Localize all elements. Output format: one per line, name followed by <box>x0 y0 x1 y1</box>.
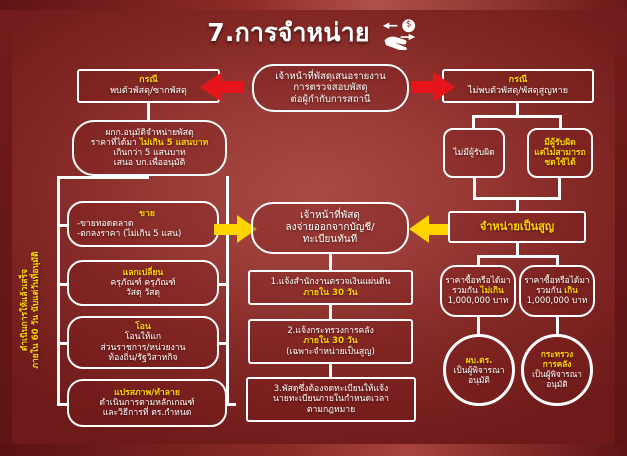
node-liable-cannot-pay[interactable]: มีผู้รับผิด แต่ไม่สามารถ ชดใช้ได้ <box>527 128 593 178</box>
liable-line-1: มีผู้รับผิด <box>544 138 575 148</box>
node-no-liable[interactable]: ไม่มีผู้รับผิด <box>443 128 505 178</box>
liable-line-2: แต่ไม่สามารถ <box>534 148 586 158</box>
case-found-line-1: พบตัวพัสดุ/ซากพัสดุ <box>110 86 187 97</box>
sell-line-2: -ตกลงราคา (ไม่เกิน 5 แสน) <box>77 229 181 239</box>
node-exchange[interactable]: แลกเปลี่ยน ครุภัณฑ์ ครุภัณฑ์ วัสดุ วัสดุ <box>67 260 219 306</box>
step3-line-1: 3.พัสดุซึ่งต้องจดทะเบียนให้แจ้ง <box>274 384 389 394</box>
top-decorative-band <box>0 0 627 10</box>
connector-no-liable-bottom <box>473 178 476 197</box>
case-found-title: กรณี <box>139 75 158 86</box>
step2-line-3: (เฉพาะจำหน่ายเป็นสูญ) <box>286 347 375 357</box>
transfer-title: โอน <box>135 322 151 332</box>
officer-line-2: ลงจ่ายออกจากบัญชี/ <box>286 222 375 234</box>
arrow-left-shaft <box>222 81 244 93</box>
page-title: 7.การจำหน่าย <box>207 13 369 53</box>
price-over-line-3: 1,000,000 บาท <box>527 296 588 306</box>
destroy-title: แปรสภาพ/ทำลาย <box>114 388 180 398</box>
left-spine-top-link <box>57 176 149 179</box>
left-column-right-spine <box>226 176 229 406</box>
arrow-right-shaft <box>411 81 433 93</box>
yellow-arrow-right-icon <box>409 215 429 243</box>
step2-line-1: 2.แจ้งกระทรวงการคลัง <box>287 326 374 336</box>
node-sell[interactable]: ขาย -ขายทอดตลาด -ตกลงราคา (ไม่เกิน 5 แสน… <box>67 201 219 247</box>
node-transfer[interactable]: โอน โอนให้แก ส่วนราชการ/หน่วยงาน ท้องถิ่… <box>67 316 219 369</box>
connector-price-split <box>477 255 558 258</box>
svg-text:$: $ <box>406 20 412 30</box>
liable-line-3: ชดใช้ได้ <box>544 158 575 168</box>
node-step-3[interactable]: 3.พัสดุซึ่งต้องจดทะเบียนให้แจ้ง นายทะเบี… <box>246 377 416 422</box>
bottom-decorative-band <box>0 444 627 456</box>
connector-case-found-down <box>147 103 150 120</box>
yellow-arrow-right-shaft <box>428 224 450 235</box>
step3-line-3: ตามกฎหมาย <box>307 405 355 415</box>
officer-line-1: เจ้าหน้าที่พัสดุ <box>300 210 360 222</box>
transfer-line-1: โอนให้แก <box>125 332 161 342</box>
left-decorative-stripe <box>0 10 12 444</box>
deadline-line-2: ภายใน 60 วัน นับแต่วันที่อนุมัติ <box>31 235 42 385</box>
right-stub-transfer <box>219 342 229 345</box>
node-case-found[interactable]: กรณี พบตัวพัสดุ/ซากพัสดุ <box>77 69 220 103</box>
case-lost-title: กรณี <box>509 75 528 86</box>
deadline-vertical-label: ดำเนินการให้แล้วเสร็จ ภายใน 60 วัน นับแต… <box>20 235 42 385</box>
node-destroy[interactable]: แปรสภาพ/ทำลาย ดำเนินการตามหลักเกณฑ์ และว… <box>67 379 227 427</box>
price-over-line-2a: รวมกัน <box>536 285 564 295</box>
right-stub-destroy <box>226 403 236 406</box>
destroy-line-2: และวิธีการที่ ตร.กำหนด <box>103 408 192 418</box>
circle-approver-police[interactable]: ผบ.ตร. เป็นผู้พิจารณา อนุมัติ <box>443 334 515 406</box>
police-line-2: อนุมัติ <box>468 375 490 385</box>
connector-price-under-down <box>477 255 480 265</box>
connector-writeoff-down <box>516 197 519 211</box>
right-decorative-stripe <box>615 10 627 444</box>
connector-center-3 <box>329 364 332 377</box>
destroy-line-1: ดำเนินการตามหลักเกณฑ์ <box>99 398 194 408</box>
flowchart-page: 7.การจำหน่าย $ กรณี พบตัวพัสดุ/ซากพัสดุ … <box>0 0 627 456</box>
step3-line-2: นายทะเบียนภายในกำหนดเวลา <box>273 394 389 404</box>
finance-line-2: อนุมัติ <box>546 380 567 390</box>
price-over-line-2-highlight: เกิน <box>564 285 578 295</box>
page-title-area: 7.การจำหน่าย $ <box>0 12 627 54</box>
right-stub-exchange <box>219 283 229 286</box>
connector-case-lost-down <box>516 103 519 115</box>
sell-title: ขาย <box>77 209 217 219</box>
start-line-2: การตรวจสอบพัสดุ <box>293 82 367 93</box>
connector-price-over-down <box>556 255 559 265</box>
approve-line-2a: ราคาที่ได้มา <box>91 138 140 148</box>
left-branch-spine <box>57 176 60 406</box>
sell-line-1: -ขายทอดตลาด <box>77 219 134 229</box>
arrow-to-case-found-icon <box>200 72 222 102</box>
circle-approver-finance[interactable]: กระทรวง การคลัง เป็นผู้พิจารณา อนุมัติ <box>521 334 593 406</box>
exchange-title: แลกเปลี่ยน <box>123 268 164 278</box>
node-step-2[interactable]: 2.แจ้งกระทรวงการคลัง ภายใน 30 วัน (เฉพาะ… <box>248 319 413 364</box>
connector-right-split <box>472 115 562 118</box>
connector-to-police-circle <box>477 317 480 335</box>
approve-line-2-highlight: ไม่เกิน 5 แสนบาท <box>140 138 209 148</box>
price-under-line-2-highlight: ไม่เกิน <box>480 285 503 295</box>
node-officer-remove[interactable]: เจ้าหน้าที่พัสดุ ลงจ่ายออกจากบัญชี/ ทะเบ… <box>251 202 409 254</box>
no-liable-line-1: ไม่มีผู้รับผิด <box>453 148 494 158</box>
write-off-title: จำหน่ายเป็นสูญ <box>480 221 554 234</box>
step1-line-2: ภายใน 30 วัน <box>303 288 357 298</box>
approve-line-4: เสนอ บก.เพื่ออนุมัติ <box>114 158 185 168</box>
price-under-line-2a: รวมกัน <box>452 285 480 295</box>
exchange-line-1: ครุภัณฑ์ ครุภัณฑ์ <box>110 278 175 288</box>
connector-center-1 <box>329 254 332 270</box>
case-lost-line-1: ไม่พบตัวพัสดุ/พัสดุสูญหาย <box>468 86 568 97</box>
police-line-1: เป็นผู้พิจารณา <box>454 365 505 375</box>
connector-no-liable-down <box>472 115 475 128</box>
price-under-line-3: 1,000,000 บาท <box>448 296 509 306</box>
exchange-line-2: วัสดุ วัสดุ <box>126 288 160 298</box>
transfer-line-2: ส่วนราชการ/หน่วยงาน <box>100 343 185 353</box>
node-write-off[interactable]: จำหน่ายเป็นสูญ <box>448 211 586 243</box>
officer-line-3: ทะเบียนทันที <box>303 234 357 246</box>
step2-line-2: ภายใน 30 วัน <box>303 336 357 346</box>
start-line-3: ต่อผู้กำกับการสถานี <box>291 94 371 105</box>
approve-line-1: ผกก.อนุมัติจำหน่ายพัสดุ <box>105 128 193 138</box>
yellow-arrow-left-shaft <box>214 224 238 235</box>
node-step-1[interactable]: 1.แจ้งสำนักงานตรวจเงินแผ่นดิน ภายใน 30 ว… <box>248 270 413 305</box>
node-price-under[interactable]: ราคาซื้อหรือได้มา รวมกัน ไม่เกิน 1,000,0… <box>440 265 516 317</box>
step1-line-1: 1.แจ้งสำนักงานตรวจเงินแผ่นดิน <box>271 277 391 287</box>
connector-liable-down <box>559 115 562 128</box>
transfer-line-3: ท้องถิ่น/รัฐวิสาหกิจ <box>108 353 177 363</box>
approve-line-3: เกินกว่า 5 แสนบาท <box>113 148 185 158</box>
node-case-lost[interactable]: กรณี ไม่พบตัวพัสดุ/พัสดุสูญหาย <box>442 69 594 103</box>
deadline-line-1: ดำเนินการให้แล้วเสร็จ <box>20 235 31 385</box>
node-approval-limit[interactable]: ผกก.อนุมัติจำหน่ายพัสดุ ราคาที่ได้มา ไม่… <box>72 120 227 176</box>
connector-to-finance-circle <box>556 317 559 335</box>
connector-liable-bottom <box>558 178 561 197</box>
connector-center-2 <box>329 305 332 319</box>
node-price-over[interactable]: ราคาซื้อหรือได้มา รวมกัน เกิน 1,000,000 … <box>519 265 595 317</box>
arrow-to-case-lost-icon <box>433 72 455 102</box>
police-title: ผบ.ตร. <box>466 355 493 365</box>
connector-writeoff-split-down <box>516 243 519 255</box>
money-hand-icon: $ <box>378 16 420 50</box>
node-start-report[interactable]: เจ้าหน้าที่พัสดุเสนอรายงาน การตรวจสอบพัส… <box>252 64 409 112</box>
start-line-1: เจ้าหน้าที่พัสดุเสนอรายงาน <box>275 71 385 82</box>
